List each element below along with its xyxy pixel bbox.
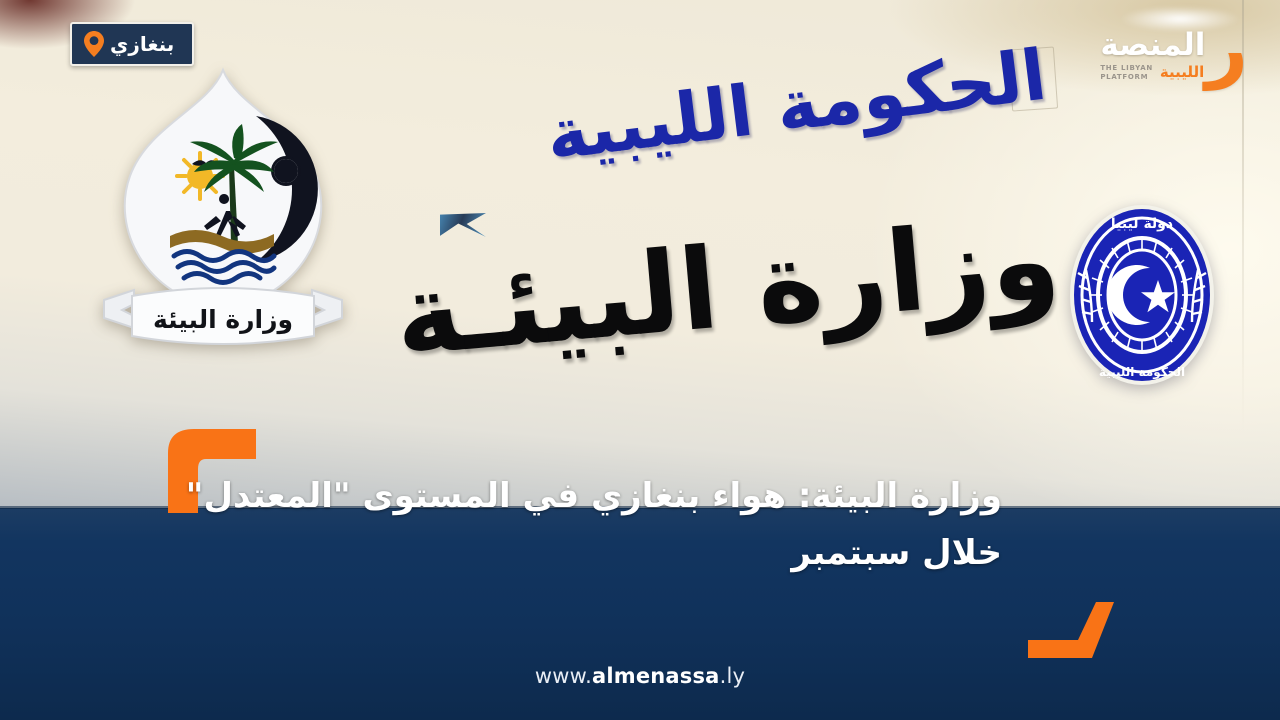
brand-subtitle-en: THE LIBYAN PLATFORM — [1100, 64, 1153, 82]
seal-text: دولة ليبيا — [1111, 216, 1173, 232]
location-pin-icon — [84, 31, 104, 57]
brand-subtitle-row: الليبية THE LIBYAN PLATFORM — [1100, 64, 1204, 82]
url-brand: almenassa — [592, 664, 720, 688]
brand-name-ar: المنصة — [1100, 30, 1205, 61]
svg-text:الحكومة الليبية: الحكومة الليبية — [1099, 365, 1185, 380]
url-prefix: www. — [535, 664, 592, 688]
state-of-libya-seal: دولة ليبيا الحكومة الليبية — [1062, 200, 1222, 390]
brand-subtitle-en-line2: PLATFORM — [1100, 73, 1148, 81]
headline-line-1: وزارة البيئة: هواء بنغازي في المستوى "ال… — [0, 468, 1002, 525]
city-badge[interactable]: بنغازي — [70, 22, 194, 66]
brand-bracket-icon: ر — [1205, 20, 1248, 78]
city-badge-label: بنغازي — [110, 34, 174, 54]
brand-logo[interactable]: ر المنصة الليبية THE LIBYAN PLATFORM — [1100, 18, 1246, 82]
ministry-of-environment-emblem: وزارة البيئة — [88, 64, 358, 364]
brand-wordmark: المنصة الليبية THE LIBYAN PLATFORM — [1100, 30, 1205, 82]
headline: وزارة البيئة: هواء بنغازي في المستوى "ال… — [0, 468, 1280, 582]
url-suffix: .ly — [720, 664, 746, 688]
quote-bracket-close-icon — [1022, 600, 1122, 662]
website-url[interactable]: www.almenassa.ly — [0, 664, 1280, 688]
emblem-caption: وزارة البيئة — [153, 305, 293, 335]
brand-subtitle-en-line1: THE LIBYAN — [1100, 64, 1153, 72]
brand-subtitle-ar: الليبية — [1160, 65, 1204, 80]
headline-line-2: خلال سبتمبر — [0, 525, 1002, 582]
news-card: وزارة البيئة الحكومة الليبية وزارة البيئ… — [0, 0, 1280, 720]
